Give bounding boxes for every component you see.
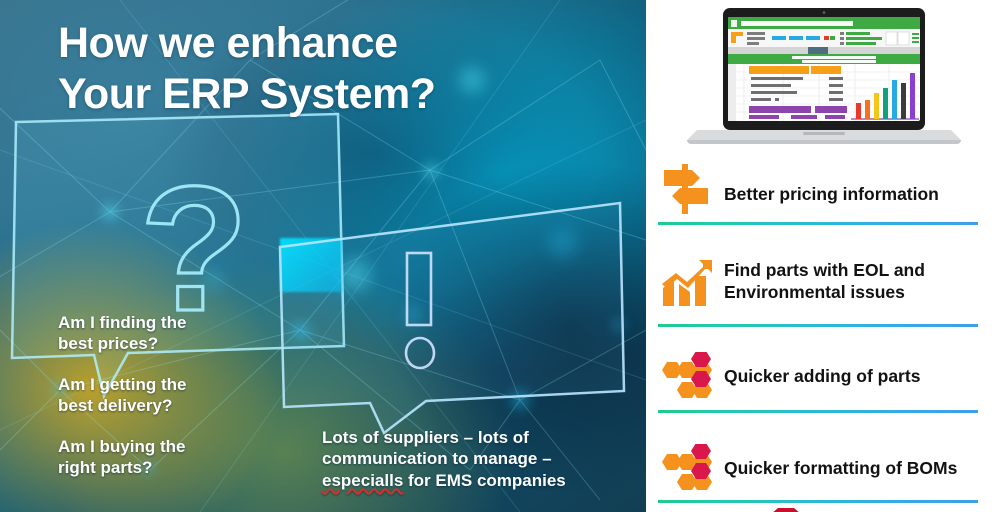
glow-node xyxy=(422,162,440,180)
question-item-3: Am I buying the right parts? xyxy=(58,437,186,478)
suppliers-note-part1: Lots of suppliers – lots of communicatio… xyxy=(322,428,552,468)
suppliers-note-misspelled-word: especialls xyxy=(322,471,403,490)
question-text: Am I buying the right parts? xyxy=(58,437,186,477)
feature-label: Quicker formatting of BOMs xyxy=(724,458,957,480)
question-item-2: Am I getting the best delivery? xyxy=(58,375,186,416)
signpost-icon xyxy=(658,160,714,216)
suppliers-note-part2: for EMS companies xyxy=(403,471,565,490)
hexagon-cluster-icon xyxy=(658,352,714,408)
question-item-1: Am I finding the best prices? xyxy=(58,313,186,354)
question-text: Am I getting the best delivery? xyxy=(58,375,186,415)
feature-row-2[interactable]: Find parts with EOL and Environmental is… xyxy=(654,252,992,338)
title-line-1: How we enhance xyxy=(58,18,436,69)
glow-node xyxy=(452,60,492,100)
growth-chart-icon xyxy=(658,258,714,314)
question-text: Am I finding the best prices? xyxy=(58,313,186,353)
laptop-mockup xyxy=(679,6,969,146)
feature-label: Find parts with EOL and Environmental is… xyxy=(724,260,925,304)
suppliers-note: Lots of suppliers – lots of communicatio… xyxy=(322,427,622,491)
feature-row-1[interactable]: Better pricing information xyxy=(654,160,992,236)
feature-row-3[interactable]: Quicker adding of parts xyxy=(654,348,992,424)
feature-label: Quicker adding of parts xyxy=(724,366,920,388)
feature-divider xyxy=(658,222,978,225)
features-panel: Better pricing information Find parts wi… xyxy=(646,0,1000,512)
feature-divider xyxy=(658,324,978,327)
slide-root: ? How we enhance Your ERP System? Am I f… xyxy=(0,0,1000,512)
page-title: How we enhance Your ERP System? xyxy=(58,18,436,119)
feature-label: Better pricing information xyxy=(724,184,939,206)
hexagon-cluster-icon xyxy=(658,444,714,500)
feature-divider xyxy=(658,410,978,413)
speech-bubble-exclamation xyxy=(274,195,646,435)
title-line-2: Your ERP System? xyxy=(58,69,436,120)
hero-image-panel: ? How we enhance Your ERP System? Am I f… xyxy=(0,0,646,512)
next-item-partial-icon xyxy=(646,502,1000,512)
